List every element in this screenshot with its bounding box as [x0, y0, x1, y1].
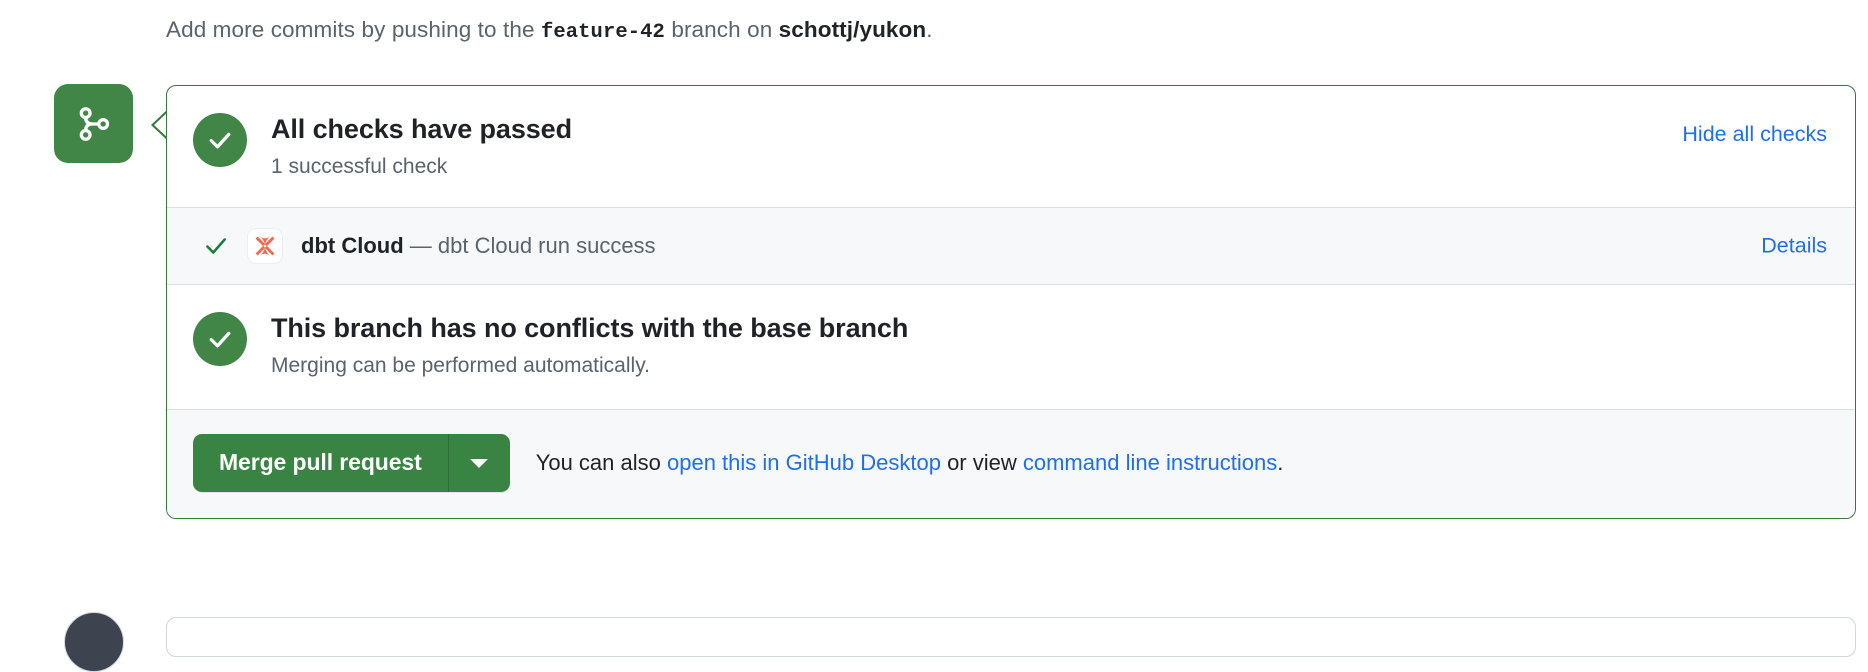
- timeline-merge-badge: [54, 84, 133, 163]
- checks-headline: All checks have passed: [271, 112, 572, 146]
- check-row: dbt Cloud — dbt Cloud run success Detail…: [167, 207, 1855, 284]
- check-separator: —: [410, 233, 432, 258]
- conflicts-subline: Merging can be performed automatically.: [271, 351, 908, 381]
- merge-actions-section: Merge pull request You can also open thi…: [167, 409, 1855, 518]
- check-details-link[interactable]: Details: [1761, 234, 1827, 259]
- conflicts-text: This branch has no conflicts with the ba…: [271, 311, 908, 381]
- check-circle-icon: [193, 113, 247, 167]
- hide-all-checks-link[interactable]: Hide all checks: [1682, 120, 1827, 148]
- dbt-cloud-icon: [247, 228, 283, 264]
- conflicts-headline: This branch has no conflicts with the ba…: [271, 311, 908, 345]
- merge-button-group: Merge pull request: [193, 434, 510, 492]
- conflicts-section: This branch has no conflicts with the ba…: [167, 284, 1855, 409]
- merge-help-prefix: You can also: [536, 450, 661, 475]
- check-circle-icon: [193, 312, 247, 366]
- merge-help-middle: or view: [947, 450, 1017, 475]
- branch-name: feature-42: [541, 21, 665, 44]
- merge-help-suffix: .: [1277, 450, 1283, 475]
- check-icon: [201, 233, 231, 259]
- git-branch-icon: [74, 104, 114, 144]
- check-description: dbt Cloud run success: [438, 233, 656, 258]
- merge-pull-request-button[interactable]: Merge pull request: [193, 434, 448, 492]
- command-line-instructions-link[interactable]: command line instructions: [1023, 450, 1277, 475]
- push-notice-middle: branch on: [671, 17, 772, 42]
- chevron-down-icon: [470, 459, 488, 468]
- merge-help-text: You can also open this in GitHub Desktop…: [536, 448, 1284, 478]
- check-row-label: dbt Cloud — dbt Cloud run success: [301, 231, 656, 261]
- merge-options-dropdown-button[interactable]: [448, 434, 510, 492]
- checks-summary-section: All checks have passed 1 successful chec…: [167, 86, 1855, 207]
- checks-summary-text: All checks have passed 1 successful chec…: [271, 112, 572, 182]
- check-app-name: dbt Cloud: [301, 233, 404, 258]
- repository-name: schottj/yukon: [779, 17, 927, 42]
- push-more-commits-notice: Add more commits by pushing to the featu…: [166, 14, 933, 49]
- push-notice-prefix: Add more commits by pushing to the: [166, 17, 535, 42]
- merge-status-box: All checks have passed 1 successful chec…: [166, 85, 1856, 519]
- avatar: [64, 612, 124, 672]
- comment-box: [166, 617, 1856, 657]
- push-notice-suffix: .: [926, 17, 932, 42]
- open-in-github-desktop-link[interactable]: open this in GitHub Desktop: [667, 450, 941, 475]
- checks-subline: 1 successful check: [271, 152, 572, 182]
